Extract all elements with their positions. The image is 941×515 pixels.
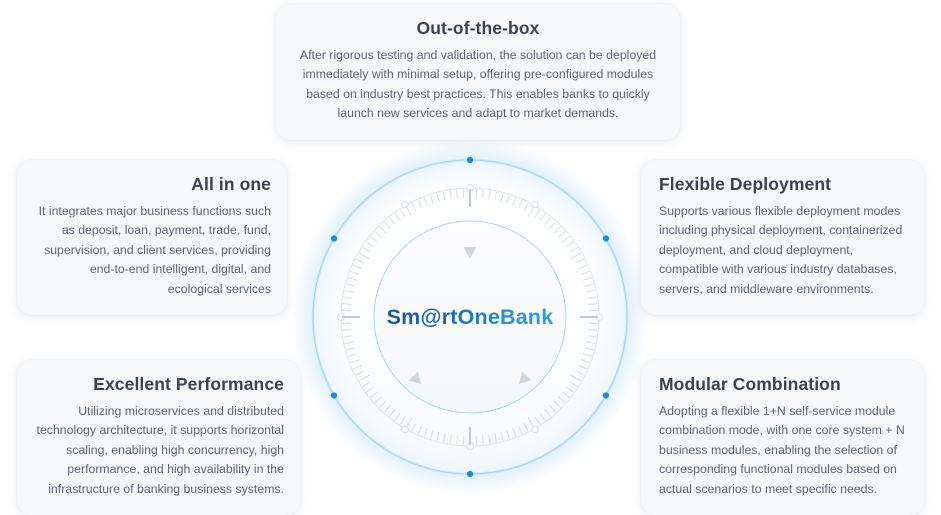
card-body: Utilizing microservices and distributed … <box>33 402 284 499</box>
node-lower-right <box>532 426 538 432</box>
card-title: Out-of-the-box <box>298 18 658 39</box>
card-title: All in one <box>33 174 271 195</box>
card-body: It integrates major business functions s… <box>33 202 271 299</box>
card-modular-combination[interactable]: Modular Combination Adopting a flexible … <box>641 360 924 515</box>
node-lower-left <box>402 426 408 432</box>
ring-dot-lower-left <box>331 392 337 398</box>
ring-dot-lower-right <box>603 392 609 398</box>
ring-dot-upper-left <box>331 235 337 241</box>
card-title: Modular Combination <box>659 374 906 395</box>
ring-dot-top <box>467 157 473 163</box>
node-upper-left <box>402 201 408 207</box>
brand-name: Sm@rtOneBank <box>387 305 554 329</box>
ring-dot-bottom <box>467 471 473 477</box>
card-title: Excellent Performance <box>33 374 284 395</box>
card-body: Supports various flexible deployment mod… <box>659 202 906 299</box>
infographic-stage: Sm@rtOneBank Out-of-the-box After rigoro… <box>0 0 941 500</box>
central-circle-graphic: Sm@rtOneBank <box>290 137 650 500</box>
card-all-in-one[interactable]: All in one It integrates major business … <box>17 160 287 315</box>
card-body: Adopting a flexible 1+N self-service mod… <box>659 402 906 499</box>
card-title: Flexible Deployment <box>659 174 906 195</box>
card-out-of-the-box[interactable]: Out-of-the-box After rigorous testing an… <box>276 4 680 140</box>
brand-wordmark: Sm@rtOneBank <box>290 305 650 330</box>
card-flexible-deployment[interactable]: Flexible Deployment Supports various fle… <box>641 160 924 315</box>
card-body: After rigorous testing and validation, t… <box>298 46 658 124</box>
card-excellent-performance[interactable]: Excellent Performance Utilizing microser… <box>17 360 300 515</box>
ring-dot-upper-right <box>603 235 609 241</box>
node-upper-right <box>532 201 538 207</box>
